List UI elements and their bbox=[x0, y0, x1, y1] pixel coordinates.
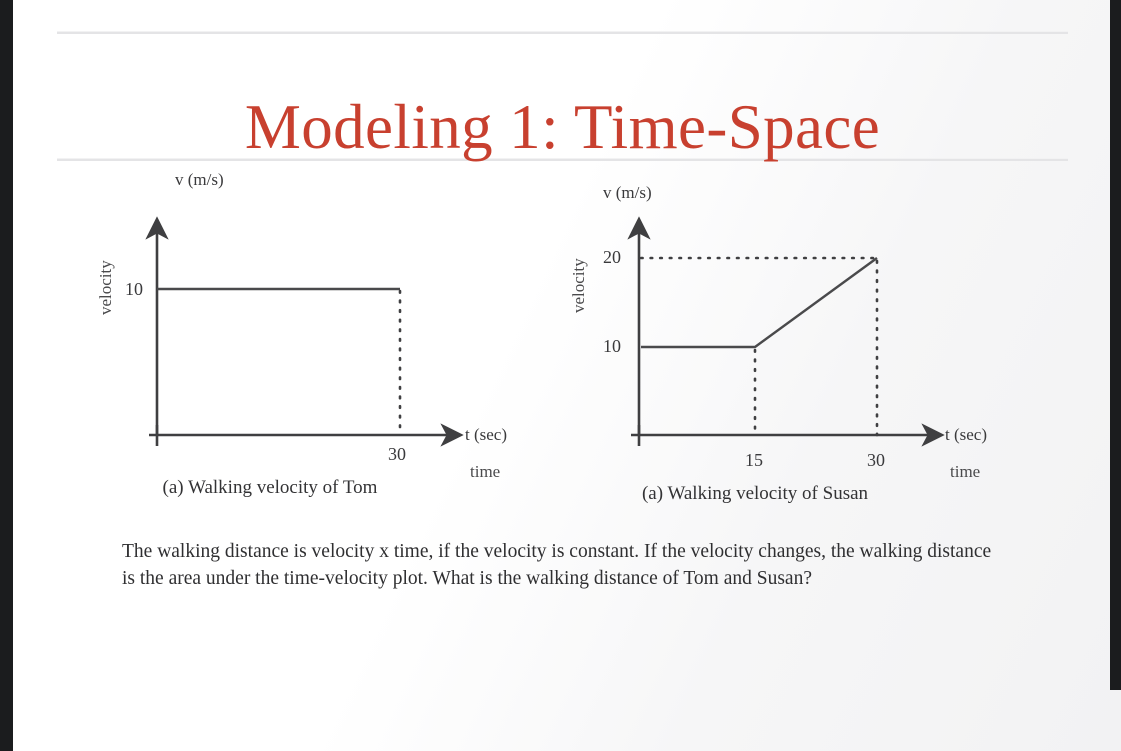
window-edge-bar-left bbox=[0, 0, 13, 751]
figure-caption: (a) Walking velocity of Susan bbox=[545, 483, 965, 505]
figure-walking-velocity-tom: v (m/s) velocity 10 30 t (sec) time bbox=[60, 170, 540, 500]
figure-caption: (a) Walking velocity of Tom bbox=[60, 477, 480, 499]
plot-area-susan bbox=[545, 170, 1030, 500]
figure-walking-velocity-susan: v (m/s) velocity 20 10 15 30 t (sec) tim… bbox=[545, 170, 1030, 500]
window-edge-bar-right bbox=[1110, 0, 1121, 690]
plot-area-tom bbox=[60, 170, 540, 500]
page-title: Modeling 1: Time-Space bbox=[57, 94, 1068, 160]
slide-root: Modeling 1: Time-Space v (m/s) velocity … bbox=[0, 0, 1121, 751]
divider-top bbox=[57, 31, 1068, 34]
body-paragraph: The walking distance is velocity x time,… bbox=[122, 538, 1002, 593]
series-line-susan-velocity bbox=[641, 258, 877, 347]
